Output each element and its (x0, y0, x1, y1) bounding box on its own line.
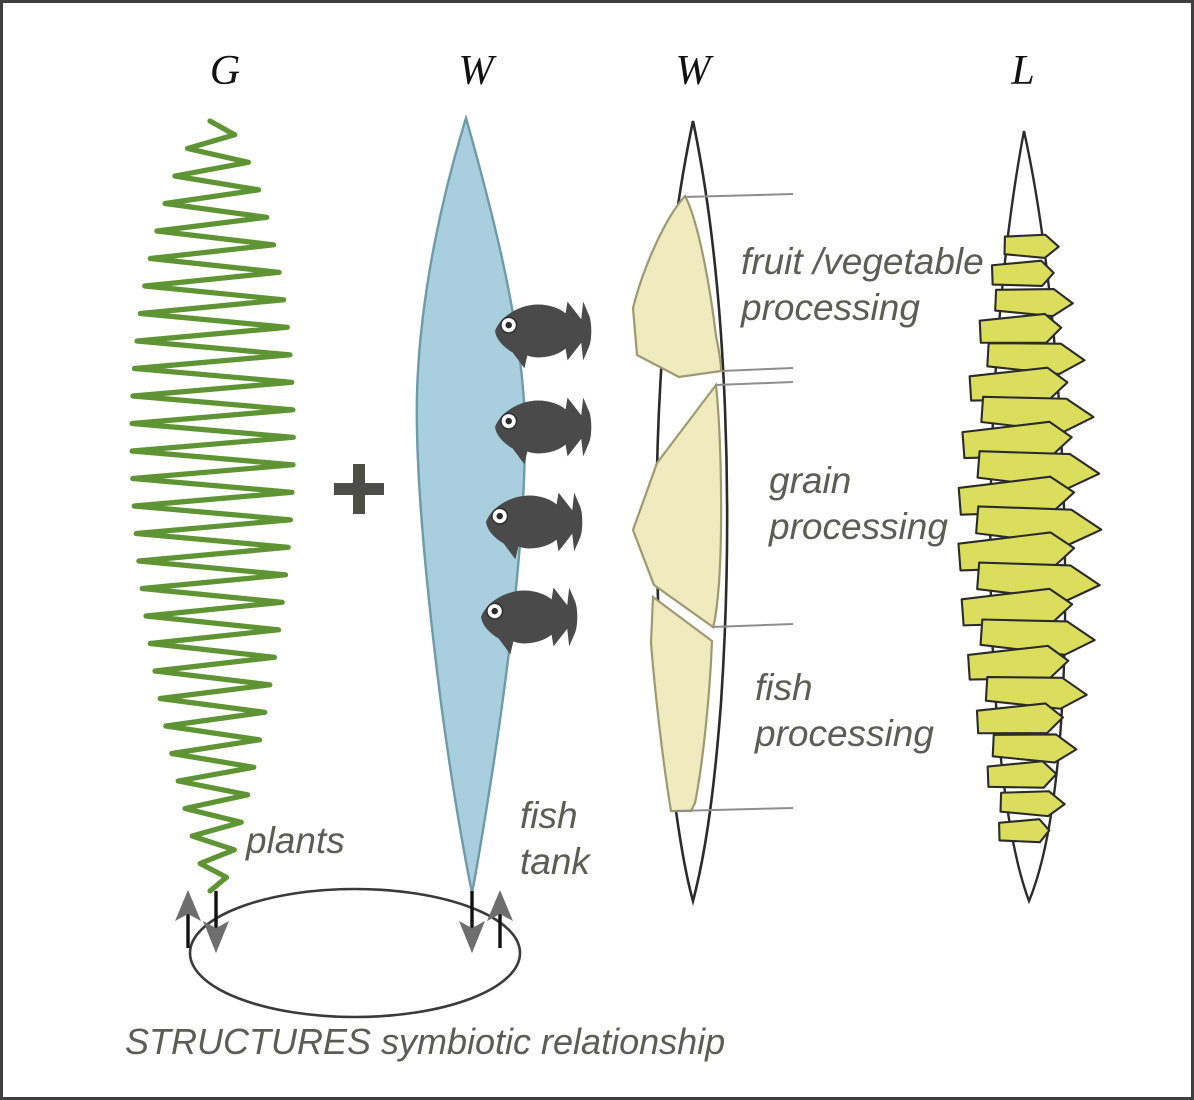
column-header-l: L (978, 47, 1068, 95)
label-fish-processing: fish processing (755, 665, 934, 758)
label-grain-processing: grain processing (769, 458, 948, 551)
leader-grain-top (716, 382, 793, 385)
plus-symbol (334, 464, 384, 514)
chip (1004, 234, 1059, 258)
arrow-left-down (203, 891, 229, 953)
arrow-right-up (487, 890, 513, 948)
chip (999, 819, 1050, 843)
symbiotic-loop (175, 889, 520, 1017)
arrow-right-down (459, 891, 485, 953)
chip (988, 761, 1057, 790)
column-header-w-processing: W (648, 47, 738, 95)
diagram-figure: G W W L plants fish tank fruit /vegetabl… (0, 0, 1194, 1100)
label-fruit-vegetable-processing: fruit /vegetable processing (741, 239, 984, 332)
chip (992, 260, 1054, 287)
column-header-g: G (180, 47, 270, 95)
arrow-left-up (175, 890, 201, 948)
diagram-canvas (3, 3, 1194, 1100)
column-header-w-water: W (431, 47, 521, 95)
label-plants: plants (246, 818, 345, 864)
figure-caption: STRUCTURES symbiotic relationship (125, 1021, 725, 1063)
leader-fruit-bottom (721, 368, 793, 371)
label-fish-tank: fish tank (520, 793, 590, 886)
plants-coil (132, 121, 293, 891)
chip (995, 287, 1073, 317)
